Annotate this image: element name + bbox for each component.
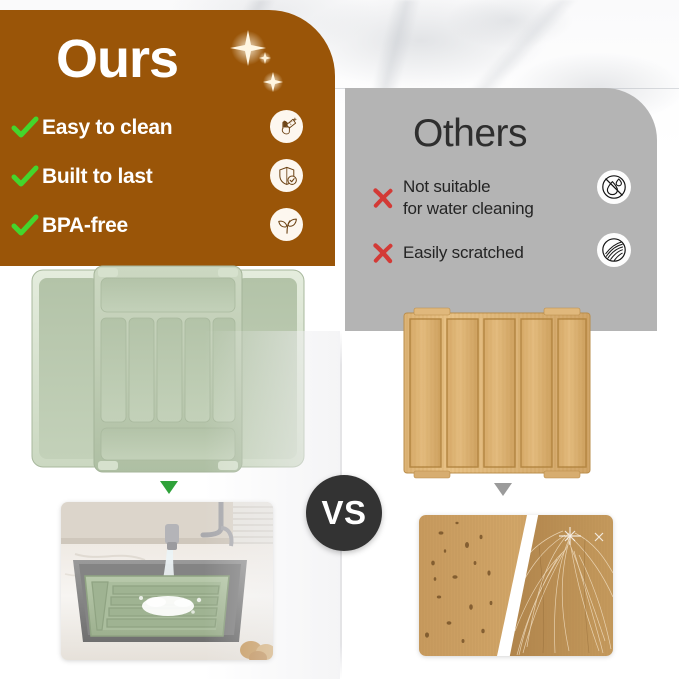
leaf-icon <box>270 208 303 241</box>
x-icon <box>363 185 403 211</box>
others-drawback-row: Easily scratched <box>363 240 633 266</box>
comparison-infographic: Ours Easy to clean Built to last <box>0 0 679 679</box>
others-drawback-list: Not suitable for water cleaning Easily s… <box>363 176 633 286</box>
scratch-lines-icon <box>597 233 631 267</box>
hand-wipe-icon <box>270 110 303 143</box>
others-drawback-label: Easily scratched <box>403 242 524 264</box>
ours-feature-label: Built to last <box>42 165 152 189</box>
others-title: Others <box>413 114 527 153</box>
ours-feature-list: Easy to clean Built to last BPA-free <box>8 112 308 259</box>
drawback-line-1: Not suitable <box>403 177 490 196</box>
vs-badge: VS <box>306 475 382 551</box>
ours-panel: Ours Easy to clean Built to last <box>0 10 335 266</box>
scratched-stained-wood-photo <box>419 515 613 656</box>
others-drawback-row: Not suitable for water cleaning <box>363 176 633 220</box>
no-water-icon <box>597 170 631 204</box>
check-icon <box>8 165 42 189</box>
check-icon <box>8 214 42 238</box>
drawback-line-2: for water cleaning <box>403 199 534 218</box>
ours-feature-row: BPA-free <box>8 210 308 242</box>
vs-label: VS <box>321 494 366 532</box>
ours-feature-row: Easy to clean <box>8 112 308 144</box>
others-drawback-label: Not suitable for water cleaning <box>403 176 534 220</box>
others-panel: Others Not suitable for water cleaning <box>345 88 657 331</box>
left-column-shade <box>0 331 340 679</box>
ours-feature-label: BPA-free <box>42 214 128 238</box>
down-arrow-gray <box>494 483 512 496</box>
ours-feature-label: Easy to clean <box>42 116 172 140</box>
bamboo-drawer-organizer <box>402 305 592 481</box>
ours-title: Ours <box>56 32 178 86</box>
shield-check-icon <box>270 159 303 192</box>
check-icon <box>8 116 42 140</box>
ours-feature-row: Built to last <box>8 161 308 193</box>
x-icon <box>363 240 403 266</box>
